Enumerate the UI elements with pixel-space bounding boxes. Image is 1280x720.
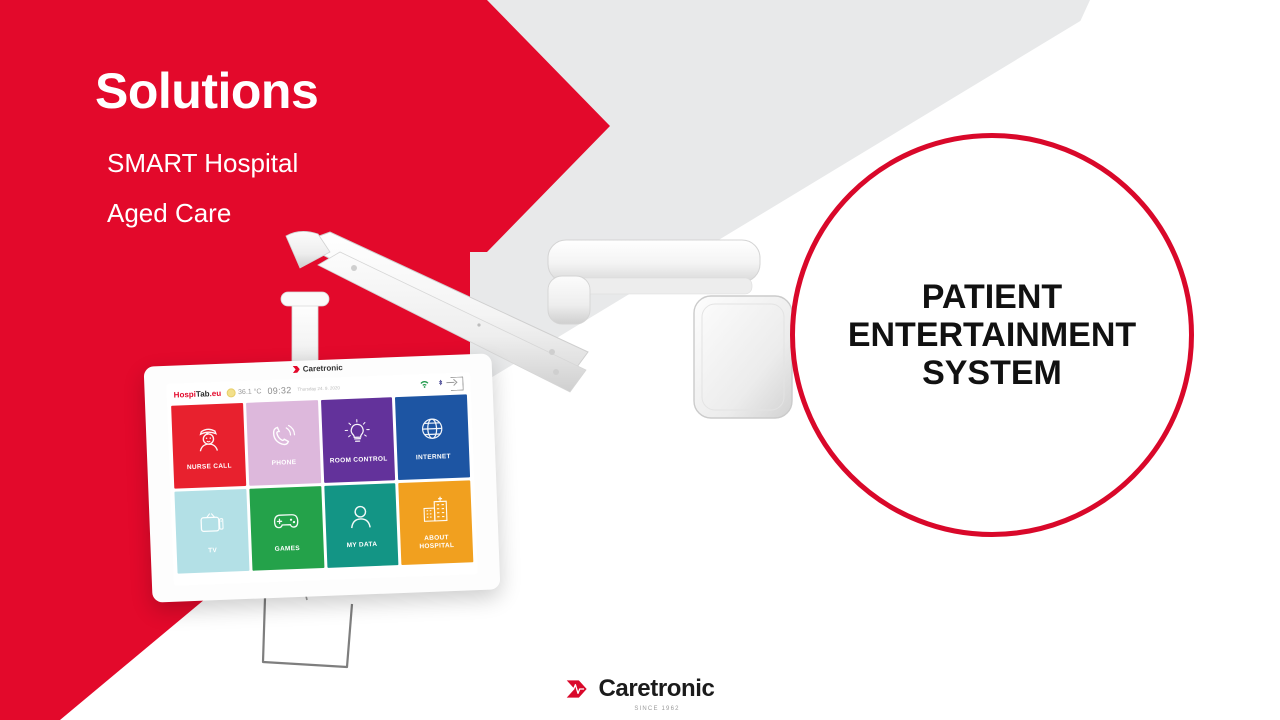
lightbulb-icon (227, 388, 236, 397)
clock-time: 09:32 (267, 385, 291, 396)
caretronic-logo-name: Caretronic (598, 677, 714, 701)
circle-title: PATIENT ENTERTAINMENT SYSTEM (842, 278, 1142, 392)
background-red-arrow (0, 0, 610, 252)
temperature-value: 36.1 °C (238, 388, 262, 396)
room-temperature: 36.1 °C (227, 387, 262, 397)
tile-games[interactable]: GAMES (249, 486, 324, 571)
hospitab-brand: HospiTab.eu (174, 388, 222, 399)
status-spacer (346, 385, 413, 388)
tv-icon (195, 506, 228, 544)
tile-label: GAMES (275, 545, 301, 554)
caretronic-chevron-icon (293, 366, 300, 373)
hospital-icon (419, 494, 452, 532)
caretronic-logo: Caretronic (0, 676, 1280, 702)
tile-room-control[interactable]: ROOM CONTROL (321, 397, 396, 482)
bluetooth-icon[interactable] (436, 378, 444, 390)
gamepad-icon (269, 503, 303, 542)
tile-label: ABOUT HOSPITAL (419, 534, 454, 551)
caretronic-chevron-icon (565, 676, 591, 702)
wifi-icon[interactable] (418, 379, 430, 391)
exit-icon[interactable] (450, 377, 464, 391)
tile-label: ROOM CONTROL (330, 455, 388, 465)
tablet-tile-grid[interactable]: NURSE CALL PHONE (167, 394, 477, 578)
tile-my-data[interactable]: MY DATA (324, 483, 399, 568)
hospitab-tablet[interactable]: Caretronic HospiTab.eu 36.1 °C 09:32 Thu… (144, 353, 501, 602)
tablet-bracket (263, 598, 352, 667)
person-icon (344, 500, 377, 538)
slide-canvas: Solutions SMART Hospital Aged Care PATIE… (0, 0, 1280, 720)
tile-label: MY DATA (347, 541, 378, 550)
tablet-bezel-logo-text: Caretronic (303, 363, 343, 374)
tile-internet[interactable]: INTERNET (395, 394, 470, 479)
tablet-bezel-logo: Caretronic (293, 363, 343, 374)
nurse-icon (191, 420, 226, 460)
subtitle-aged-care: Aged Care (107, 198, 231, 229)
caretronic-logo-text: Caretronic (598, 677, 714, 701)
tile-tv[interactable]: TV (174, 488, 249, 573)
tile-label: NURSE CALL (187, 462, 232, 472)
tile-label: TV (208, 547, 217, 555)
phone-icon (266, 418, 299, 456)
tile-label: INTERNET (416, 453, 451, 462)
highlight-circle: PATIENT ENTERTAINMENT SYSTEM (790, 133, 1194, 537)
tile-nurse-call[interactable]: NURSE CALL (171, 403, 246, 488)
page-title: Solutions (95, 62, 318, 120)
subtitle-smart-hospital: SMART Hospital (107, 148, 298, 179)
clock-date: Thursday 24. 9. 2020 (297, 386, 340, 393)
wall-plate (694, 296, 792, 418)
tile-label: PHONE (272, 459, 297, 468)
lightbulb-icon (341, 415, 374, 453)
tile-phone[interactable]: PHONE (246, 400, 321, 485)
caretronic-logo-tagline: SINCE 1962 (34, 706, 1280, 712)
globe-icon (416, 412, 449, 450)
tile-about-hospital[interactable]: ABOUT HOSPITAL (398, 480, 473, 565)
tablet-screen[interactable]: HospiTab.eu 36.1 °C 09:32 Thursday 24. 9… (166, 372, 478, 586)
